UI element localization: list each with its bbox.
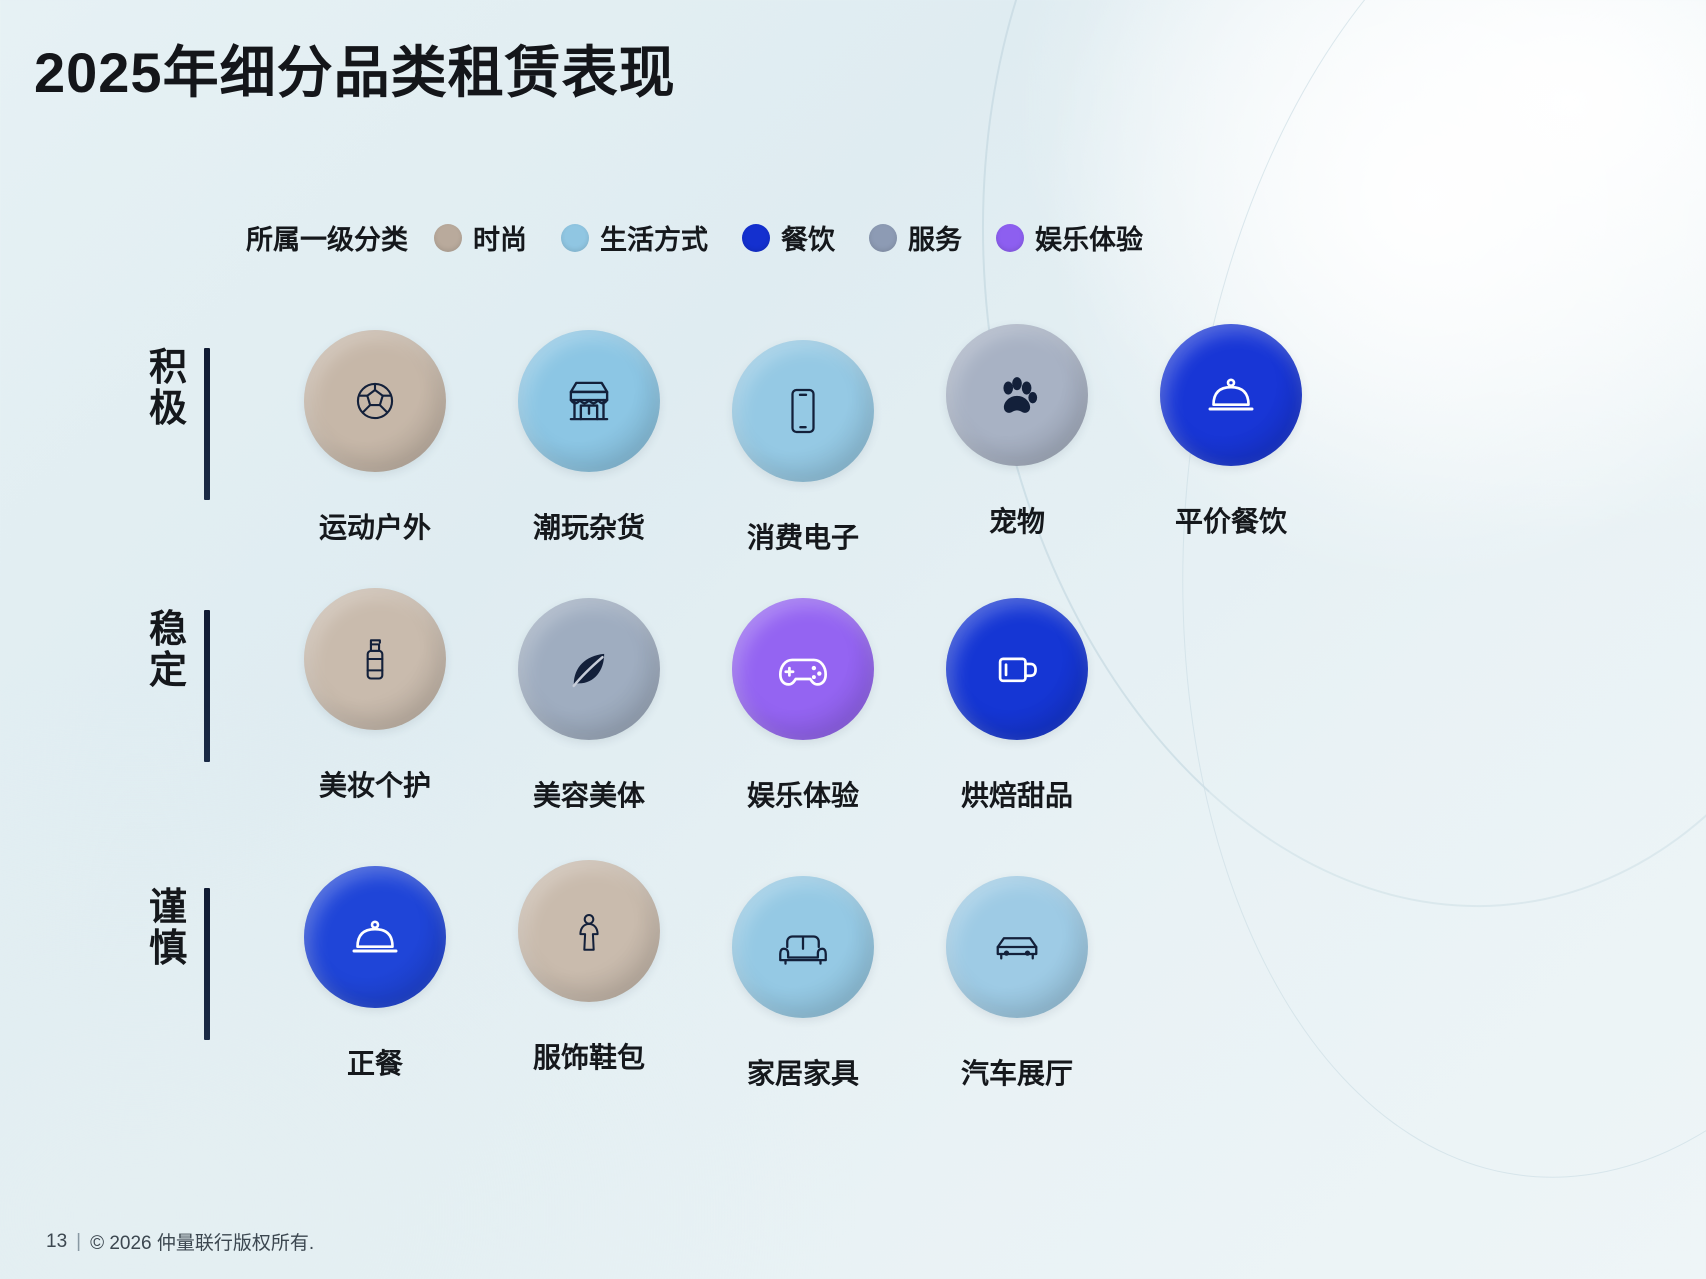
category-cell[interactable]: 宠物	[910, 324, 1124, 540]
category-bubble	[304, 588, 446, 730]
row-tag-label: 积极	[146, 348, 190, 430]
legend-item[interactable]: 餐饮	[742, 218, 835, 257]
page-title: 2025年细分品类租赁表现	[34, 28, 676, 109]
category-label: 宠物	[989, 500, 1045, 540]
legend-item-label: 时尚	[473, 218, 527, 257]
legend-item[interactable]: 生活方式	[561, 218, 708, 257]
category-label: 正餐	[347, 1042, 403, 1082]
legend-title: 所属一级分类	[246, 218, 408, 257]
footer: 13 | © 2026 仲量联行版权所有.	[46, 1228, 314, 1255]
row-tag-bar	[204, 348, 210, 500]
category-bubble	[518, 860, 660, 1002]
category-bubble	[304, 330, 446, 472]
legend-item-label: 餐饮	[781, 218, 835, 257]
soccer-ball-icon	[349, 375, 401, 427]
category-cell[interactable]: 美妆个护	[268, 588, 482, 804]
category-bubble	[946, 324, 1088, 466]
category-label: 汽车展厅	[961, 1052, 1073, 1092]
copyright-text: © 2026 仲量联行版权所有.	[90, 1228, 314, 1255]
category-cell[interactable]: 烘焙甜品	[910, 598, 1124, 814]
category-cell[interactable]: 消费电子	[696, 340, 910, 556]
row-tag-bar	[204, 888, 210, 1040]
row-cells: 美妆个护美容美体娱乐体验烘焙甜品	[268, 588, 1124, 814]
gamepad-icon	[774, 640, 832, 698]
category-cell[interactable]: 美容美体	[482, 598, 696, 814]
legend-dot-dining	[742, 224, 770, 252]
row-cells: 运动户外潮玩杂货消费电子宠物平价餐饮	[268, 330, 1338, 556]
slide-canvas: 2025年细分品类租赁表现 所属一级分类 时尚生活方式餐饮服务娱乐体验 积极 运…	[0, 0, 1706, 1279]
legend-dot-service	[869, 224, 897, 252]
category-cell[interactable]: 潮玩杂货	[482, 330, 696, 546]
cosmetic-pump-bottle-icon	[349, 633, 401, 685]
legend-item[interactable]: 时尚	[434, 218, 527, 257]
cloche-icon	[347, 909, 403, 965]
category-bubble	[946, 598, 1088, 740]
category-bubble	[518, 598, 660, 740]
legend-item-label: 服务	[908, 218, 962, 257]
category-cell[interactable]: 正餐	[268, 866, 482, 1082]
cloche-icon	[1203, 367, 1259, 423]
legend-dot-fashion	[434, 224, 462, 252]
category-cell[interactable]: 服饰鞋包	[482, 860, 696, 1076]
category-label: 美容美体	[533, 774, 645, 814]
category-label: 服饰鞋包	[533, 1036, 645, 1076]
row-tag-cautious: 谨慎	[146, 888, 210, 1040]
legend-item-label: 生活方式	[600, 218, 708, 257]
category-label: 消费电子	[747, 516, 859, 556]
coffee-cup-icon	[990, 642, 1044, 696]
legend-item-label: 娱乐体验	[1035, 218, 1143, 257]
legend: 所属一级分类 时尚生活方式餐饮服务娱乐体验	[246, 218, 1177, 257]
row-tag-label: 稳定	[146, 610, 190, 692]
category-cell[interactable]: 运动户外	[268, 330, 482, 546]
row-tag-label: 谨慎	[146, 888, 190, 970]
category-label: 家居家具	[747, 1052, 859, 1092]
category-bubble	[732, 598, 874, 740]
smartphone-icon	[775, 383, 831, 439]
paw-print-icon	[989, 367, 1045, 423]
category-label: 潮玩杂货	[533, 506, 645, 546]
leaf-icon	[562, 642, 616, 696]
row-tag-positive: 积极	[146, 348, 210, 500]
category-label: 运动户外	[319, 506, 431, 546]
row-tag-bar	[204, 610, 210, 762]
category-label: 平价餐饮	[1175, 500, 1287, 540]
storefront-icon	[560, 372, 618, 430]
category-bubble	[732, 340, 874, 482]
legend-item[interactable]: 服务	[869, 218, 962, 257]
category-cell[interactable]: 娱乐体验	[696, 598, 910, 814]
category-bubble	[304, 866, 446, 1008]
category-label: 烘焙甜品	[961, 774, 1073, 814]
category-cell[interactable]: 平价餐饮	[1124, 324, 1338, 540]
apparel-icon	[564, 906, 614, 956]
category-cell[interactable]: 汽车展厅	[910, 876, 1124, 1092]
category-bubble	[1160, 324, 1302, 466]
category-label: 美妆个护	[319, 764, 431, 804]
category-bubble	[732, 876, 874, 1018]
row-cells: 正餐服饰鞋包家居家具汽车展厅	[268, 866, 1124, 1092]
legend-dot-entertainment	[996, 224, 1024, 252]
row-tag-stable: 稳定	[146, 610, 210, 762]
car-icon	[989, 919, 1045, 975]
sofa-icon	[775, 919, 831, 975]
footer-separator: |	[76, 1231, 81, 1253]
category-bubble	[518, 330, 660, 472]
category-bubble	[946, 876, 1088, 1018]
page-number: 13	[46, 1231, 67, 1253]
legend-dot-lifestyle	[561, 224, 589, 252]
legend-item[interactable]: 娱乐体验	[996, 218, 1143, 257]
category-cell[interactable]: 家居家具	[696, 876, 910, 1092]
category-label: 娱乐体验	[747, 774, 859, 814]
